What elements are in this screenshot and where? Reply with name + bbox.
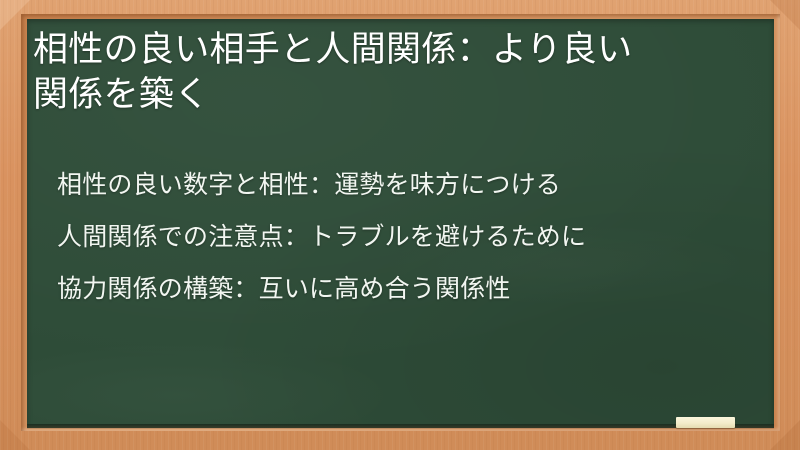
slide-bullet-list: 相性の良い数字と相性：運勢を味方につける 人間関係での注意点：トラブルを避けるた…	[57, 159, 757, 315]
slide-title: 相性の良い相手と人間関係：より良い 関係を築く	[33, 27, 753, 117]
board-bottom-shadow	[27, 424, 774, 429]
list-item: 相性の良い数字と相性：運勢を味方につける	[57, 159, 757, 211]
slide-content: 相性の良い相手と人間関係：より良い 関係を築く 相性の良い数字と相性：運勢を味方…	[27, 19, 774, 428]
list-item: 人間関係での注意点：トラブルを避けるために	[57, 211, 757, 263]
chalkboard-surface: 相性の良い相手と人間関係：より良い 関係を築く 相性の良い数字と相性：運勢を味方…	[27, 19, 774, 428]
chalk-stick-icon	[676, 417, 735, 428]
slide-canvas: 相性の良い相手と人間関係：より良い 関係を築く 相性の良い数字と相性：運勢を味方…	[0, 0, 800, 450]
list-item: 協力関係の構築：互いに高め合う関係性	[57, 263, 757, 315]
